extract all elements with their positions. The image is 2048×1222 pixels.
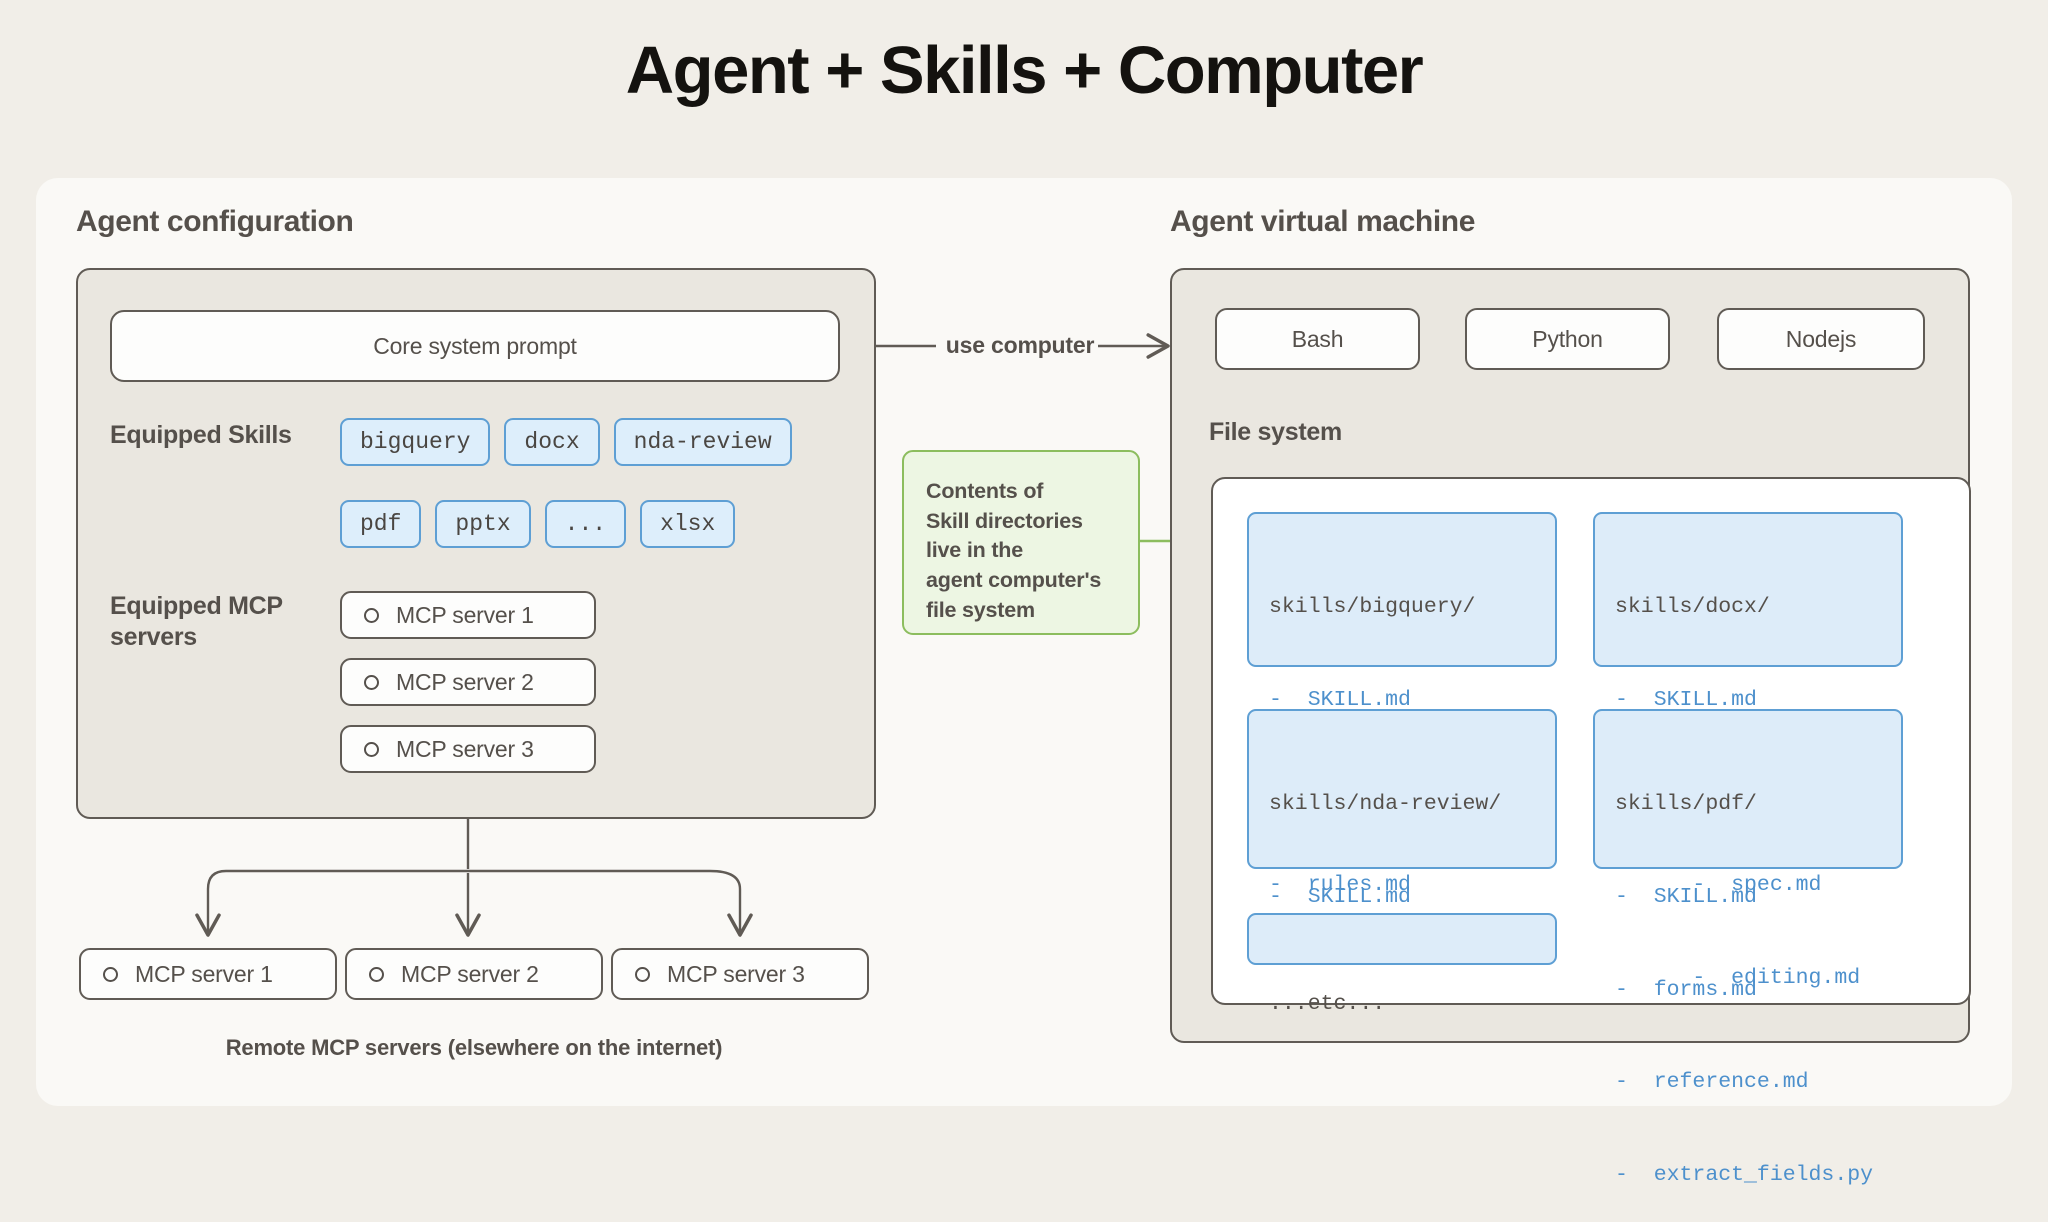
skill-chip-more[interactable]: ... [545,500,626,548]
remote-mcp-server-label: MCP server 1 [135,961,273,988]
dir-card-name: skills/docx/ [1615,592,1881,623]
circle-icon [369,967,384,982]
page-title: Agent + Skills + Computer [0,32,2048,109]
mcp-server-box-2[interactable]: MCP server 2 [340,658,596,706]
mcp-server-box-3[interactable]: MCP server 3 [340,725,596,773]
mcp-server-box-1[interactable]: MCP server 1 [340,591,596,639]
dir-card-nda-review[interactable]: skills/nda-review/ - SKILL.md [1247,709,1557,869]
mcp-server-label: MCP server 1 [396,602,534,629]
agent-configuration-heading: Agent configuration [76,205,353,239]
dir-card-file: - SKILL.md [1615,882,1881,913]
remote-mcp-server-label: MCP server 2 [401,961,539,988]
dir-card-file: - forms.md [1615,975,1881,1006]
skill-chip-pptx[interactable]: pptx [435,500,530,548]
dir-card-name: skills/pdf/ [1615,789,1881,820]
runtime-chip-bash[interactable]: Bash [1215,308,1420,370]
circle-icon [103,967,118,982]
dir-card-etc[interactable]: ...etc... [1247,913,1557,965]
skill-chip-bigquery[interactable]: bigquery [340,418,490,466]
equipped-skills-row-1: bigquery docx nda-review [340,418,792,466]
circle-icon [364,675,379,690]
skill-chip-xlsx[interactable]: xlsx [640,500,735,548]
dir-card-file: - reference.md [1615,1067,1881,1098]
circle-icon [364,608,379,623]
dir-card-name: skills/nda-review/ [1269,789,1535,820]
runtime-chip-nodejs[interactable]: Nodejs [1717,308,1925,370]
file-system-label: File system [1209,418,1342,447]
runtime-chip-python[interactable]: Python [1465,308,1670,370]
dir-card-name: skills/bigquery/ [1269,592,1535,623]
skill-directories-callout: Contents of Skill directories live in th… [902,450,1140,635]
skill-chip-docx[interactable]: docx [504,418,599,466]
skill-chip-pdf[interactable]: pdf [340,500,421,548]
dir-card-file: - SKILL.md [1269,882,1535,913]
skill-directories-callout-text: Contents of Skill directories live in th… [926,477,1126,625]
circle-icon [364,742,379,757]
dir-card-pdf[interactable]: skills/pdf/ - SKILL.md - forms.md - refe… [1593,709,1903,869]
remote-mcp-server-box-3[interactable]: MCP server 3 [611,948,869,1000]
circle-icon [635,967,650,982]
equipped-skills-row-2: pdf pptx ... xlsx [340,500,735,548]
skill-chip-nda-review[interactable]: nda-review [614,418,792,466]
mcp-server-label: MCP server 3 [396,736,534,763]
dir-card-name: ...etc... [1269,989,1535,1020]
agent-virtual-machine-heading: Agent virtual machine [1170,205,1475,239]
dir-card-docx[interactable]: skills/docx/ - SKILL.md - ooxml/ - spec.… [1593,512,1903,667]
remote-mcp-servers-caption: Remote MCP servers (elsewhere on the int… [79,1035,869,1061]
core-system-prompt-box[interactable]: Core system prompt [110,310,840,382]
remote-mcp-server-box-2[interactable]: MCP server 2 [345,948,603,1000]
dir-card-bigquery[interactable]: skills/bigquery/ - SKILL.md - datasource… [1247,512,1557,667]
equipped-mcp-servers-label: Equipped MCP servers [110,591,310,652]
remote-mcp-server-box-1[interactable]: MCP server 1 [79,948,337,1000]
dir-card-file: - extract_fields.py [1615,1160,1881,1191]
use-computer-label: use computer [940,332,1100,359]
equipped-skills-label: Equipped Skills [110,420,330,451]
mcp-server-label: MCP server 2 [396,669,534,696]
remote-mcp-server-label: MCP server 3 [667,961,805,988]
